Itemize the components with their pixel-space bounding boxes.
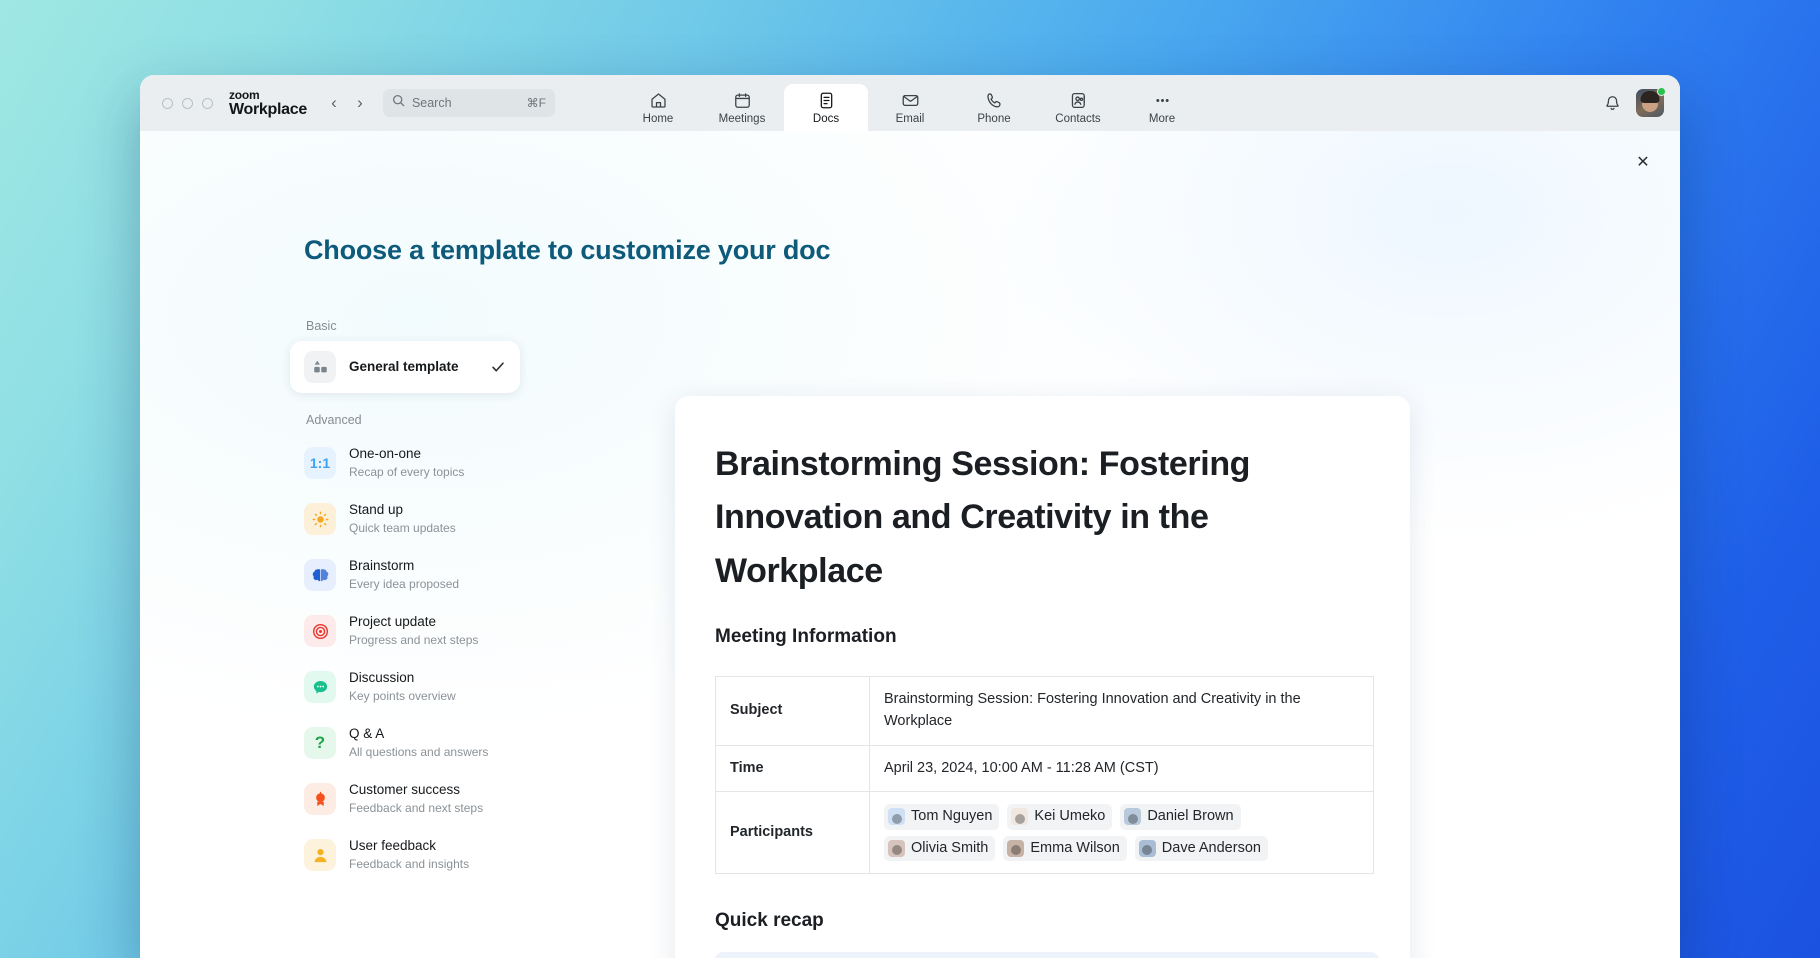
participant-name: Kei Umeko: [1034, 805, 1105, 828]
tab-contacts-label: Contacts: [1055, 113, 1100, 125]
tab-contacts[interactable]: Contacts: [1036, 84, 1120, 131]
close-window-button[interactable]: [162, 98, 173, 109]
page-title: Choose a template to customize your doc: [304, 235, 830, 266]
section-heading-meeting-information: Meeting Information: [715, 626, 1370, 648]
phone-icon: [985, 90, 1004, 110]
document-icon: [817, 90, 836, 110]
participant-name: Tom Nguyen: [911, 805, 992, 828]
tab-phone-label: Phone: [977, 113, 1010, 125]
presence-status-badge: [1657, 87, 1666, 96]
template-chooser-modal: ✕ Choose a template to customize your do…: [140, 131, 1680, 958]
tab-home[interactable]: Home: [616, 84, 700, 131]
tab-docs[interactable]: Docs: [784, 84, 868, 131]
award-ribbon-icon: [304, 783, 336, 815]
sidebar-item-general-template[interactable]: General template: [290, 341, 520, 393]
avatar: [888, 808, 905, 825]
sidebar-item-sublabel: Quick team updates: [349, 521, 456, 535]
sidebar-item-one-on-one[interactable]: 1:1 One-on-one Recap of every topics: [290, 435, 520, 491]
shapes-icon: [304, 351, 336, 383]
zoom-workplace-window: zoom Workplace ‹ › Search ⌘F: [140, 75, 1680, 958]
sidebar-item-discussion[interactable]: Discussion Key points overview: [290, 659, 520, 715]
document-preview-card[interactable]: Brainstorming Session: Fostering Innovat…: [675, 396, 1410, 958]
question-mark-icon: ?: [304, 727, 336, 759]
sidebar-item-sublabel: Feedback and insights: [349, 857, 469, 871]
tab-email-label: Email: [896, 113, 925, 125]
sidebar-item-label: Project update: [349, 614, 436, 629]
meeting-information-table: Subject Brainstorming Session: Fostering…: [715, 676, 1374, 874]
participant-chip-list: Tom Nguyen Kei Umeko Daniel Brown: [884, 804, 1359, 860]
quick-recap-text: The meeting focused on brainstorming ide…: [715, 952, 1379, 958]
participant-name: Olivia Smith: [911, 837, 988, 860]
ellipsis-icon: [1153, 90, 1172, 110]
sidebar-item-label: Brainstorm: [349, 558, 414, 573]
sidebar-item-sublabel: All questions and answers: [349, 745, 488, 759]
group-label-advanced: Advanced: [290, 413, 520, 427]
table-row: Participants Tom Nguyen Kei U: [716, 792, 1374, 873]
sidebar-item-text: Discussion Key points overview: [349, 669, 506, 705]
sidebar-item-brainstorm[interactable]: Brainstorm Every idea proposed: [290, 547, 520, 603]
contacts-icon: [1069, 90, 1088, 110]
calendar-icon: [733, 90, 752, 110]
search-shortcut: ⌘F: [527, 96, 546, 110]
tab-phone[interactable]: Phone: [952, 84, 1036, 131]
envelope-icon: [901, 90, 920, 110]
tab-more-label: More: [1149, 113, 1175, 125]
nav-forward-button[interactable]: ›: [347, 90, 373, 116]
minimize-window-button[interactable]: [182, 98, 193, 109]
template-sidebar: Basic General template: [290, 319, 520, 958]
speech-bubble-icon: [304, 671, 336, 703]
brand-workplace-text: Workplace: [229, 102, 307, 118]
sidebar-item-sublabel: Every idea proposed: [349, 577, 459, 591]
tab-home-label: Home: [643, 113, 674, 125]
participant-chip: Tom Nguyen: [884, 804, 999, 829]
participant-name: Emma Wilson: [1030, 837, 1119, 860]
sun-icon: [304, 503, 336, 535]
sidebar-item-label: User feedback: [349, 838, 436, 853]
sidebar-item-q-and-a[interactable]: ? Q & A All questions and answers: [290, 715, 520, 771]
sidebar-item-text: Customer success Feedback and next steps: [349, 781, 506, 817]
sidebar-item-text: User feedback Feedback and insights: [349, 837, 506, 873]
group-label-basic: Basic: [290, 319, 520, 333]
tab-email[interactable]: Email: [868, 84, 952, 131]
sidebar-item-label: One-on-one: [349, 446, 421, 461]
avatar: [1011, 808, 1028, 825]
participant-name: Dave Anderson: [1162, 837, 1261, 860]
one-to-one-icon: 1:1: [304, 447, 336, 479]
desktop-background: zoom Workplace ‹ › Search ⌘F: [0, 0, 1820, 958]
sidebar-item-text: Project update Progress and next steps: [349, 613, 506, 649]
nav-back-button[interactable]: ‹: [321, 90, 347, 116]
sidebar-item-text: Stand up Quick team updates: [349, 501, 506, 537]
home-icon: [649, 90, 668, 110]
row-key: Time: [716, 745, 870, 792]
maximize-window-button[interactable]: [202, 98, 213, 109]
sidebar-item-stand-up[interactable]: Stand up Quick team updates: [290, 491, 520, 547]
row-key: Participants: [716, 792, 870, 873]
document-title: Brainstorming Session: Fostering Innovat…: [715, 438, 1370, 598]
row-value: Brainstorming Session: Fostering Innovat…: [870, 677, 1374, 746]
notifications-bell-icon[interactable]: [1603, 94, 1622, 113]
brain-icon: [304, 559, 336, 591]
sidebar-item-text: Q & A All questions and answers: [349, 725, 506, 761]
sidebar-item-label: Customer success: [349, 782, 460, 797]
row-value-participants: Tom Nguyen Kei Umeko Daniel Brown: [870, 792, 1374, 873]
search-icon: [392, 94, 405, 112]
participant-chip: Emma Wilson: [1003, 836, 1126, 861]
section-heading-quick-recap: Quick recap: [715, 910, 1370, 932]
sidebar-item-label: Q & A: [349, 726, 384, 741]
sidebar-item-sublabel: Feedback and next steps: [349, 801, 483, 815]
check-icon: [490, 359, 506, 375]
avatar: [1139, 840, 1156, 857]
window-traffic-lights[interactable]: [162, 98, 213, 109]
participant-chip: Daniel Brown: [1120, 804, 1240, 829]
zoom-workplace-logo: zoom Workplace: [229, 89, 307, 118]
sidebar-item-label: Stand up: [349, 502, 403, 517]
sidebar-item-sublabel: Key points overview: [349, 689, 456, 703]
titlebar-right-controls: [1603, 75, 1664, 131]
avatar: [1007, 840, 1024, 857]
tab-docs-label: Docs: [813, 113, 839, 125]
search-placeholder: Search: [412, 96, 520, 110]
person-icon: [304, 839, 336, 871]
sidebar-item-label: General template: [349, 359, 459, 374]
window-titlebar: zoom Workplace ‹ › Search ⌘F: [140, 75, 1680, 131]
sidebar-item-user-feedback[interactable]: User feedback Feedback and insights: [290, 827, 520, 883]
sidebar-item-text: One-on-one Recap of every topics: [349, 445, 506, 481]
avatar: [888, 840, 905, 857]
close-icon[interactable]: ✕: [1628, 147, 1658, 177]
tab-meetings-label: Meetings: [719, 113, 766, 125]
tab-more[interactable]: More: [1120, 84, 1204, 131]
table-row: Time April 23, 2024, 10:00 AM - 11:28 AM…: [716, 745, 1374, 792]
table-row: Subject Brainstorming Session: Fostering…: [716, 677, 1374, 746]
sidebar-item-customer-success[interactable]: Customer success Feedback and next steps: [290, 771, 520, 827]
participant-name: Daniel Brown: [1147, 805, 1233, 828]
sidebar-item-label: Discussion: [349, 670, 414, 685]
sidebar-item-text: General template: [349, 358, 477, 376]
sidebar-item-text: Brainstorm Every idea proposed: [349, 557, 506, 593]
avatar: [1124, 808, 1141, 825]
sidebar-item-sublabel: Progress and next steps: [349, 633, 478, 647]
participant-chip: Dave Anderson: [1135, 836, 1268, 861]
sidebar-item-sublabel: Recap of every topics: [349, 465, 464, 479]
row-key: Subject: [716, 677, 870, 746]
sidebar-item-project-update[interactable]: Project update Progress and next steps: [290, 603, 520, 659]
tab-meetings[interactable]: Meetings: [700, 84, 784, 131]
participant-chip: Kei Umeko: [1007, 804, 1112, 829]
target-icon: [304, 615, 336, 647]
main-tabs: Home Meetings: [616, 75, 1204, 131]
participant-chip: Olivia Smith: [884, 836, 995, 861]
row-value: April 23, 2024, 10:00 AM - 11:28 AM (CST…: [870, 745, 1374, 792]
brand-zoom-text: zoom: [229, 89, 307, 101]
search-input[interactable]: Search ⌘F: [383, 89, 555, 117]
